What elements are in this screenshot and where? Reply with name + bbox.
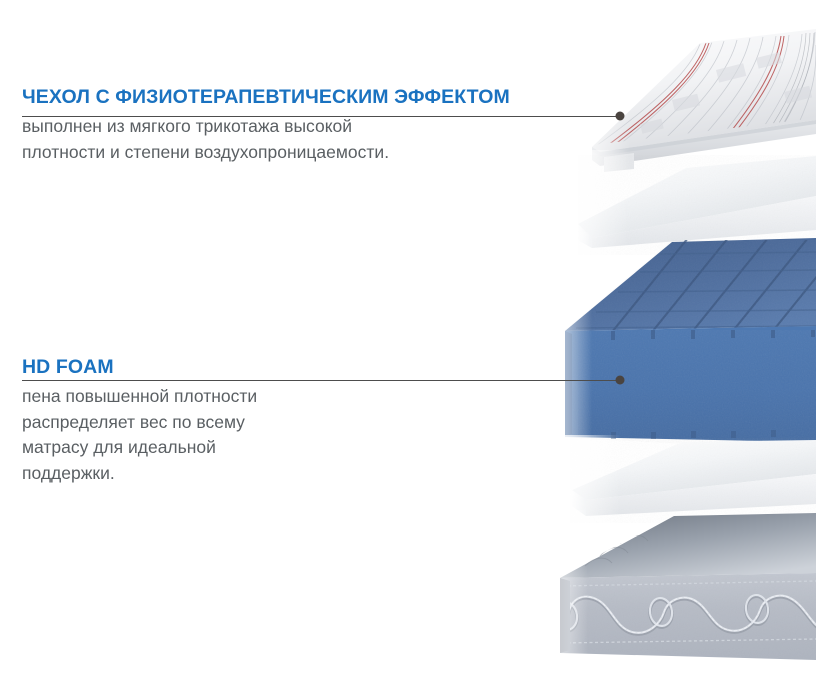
- callout-hd-foam: HD FOAM пена повышенной плотности распре…: [22, 356, 257, 486]
- leader-dot-hd-foam: [616, 376, 625, 385]
- callout-hd-foam-title: HD FOAM: [22, 356, 257, 378]
- mattress-layers-figure: ЧЕХОЛ С ФИЗИОТЕРАПЕВТИЧЕСКИМ ЭФФЕКТОМ вы…: [0, 0, 816, 700]
- leader-line-cover: [22, 116, 620, 117]
- cover-label-tab: [604, 153, 634, 172]
- leader-line-hd-foam: [22, 380, 620, 381]
- layer-quilted-base: [538, 510, 816, 665]
- callout-cover-body: выполнен из мягкого трикотажа высокой пл…: [22, 114, 510, 165]
- callout-hd-foam-body: пена повышенной плотности распределяет в…: [22, 384, 257, 486]
- layer-white-foam-lower: [545, 435, 816, 525]
- callout-cover-title: ЧЕХОЛ С ФИЗИОТЕРАПЕВТИЧЕСКИМ ЭФФЕКТОМ: [22, 86, 510, 108]
- leader-dot-cover: [616, 112, 625, 121]
- callout-cover: ЧЕХОЛ С ФИЗИОТЕРАПЕВТИЧЕСКИМ ЭФФЕКТОМ вы…: [22, 86, 510, 165]
- layer-hd-foam: [540, 232, 816, 447]
- layer-cover: [560, 25, 816, 175]
- layer-white-foam-upper: [548, 150, 816, 260]
